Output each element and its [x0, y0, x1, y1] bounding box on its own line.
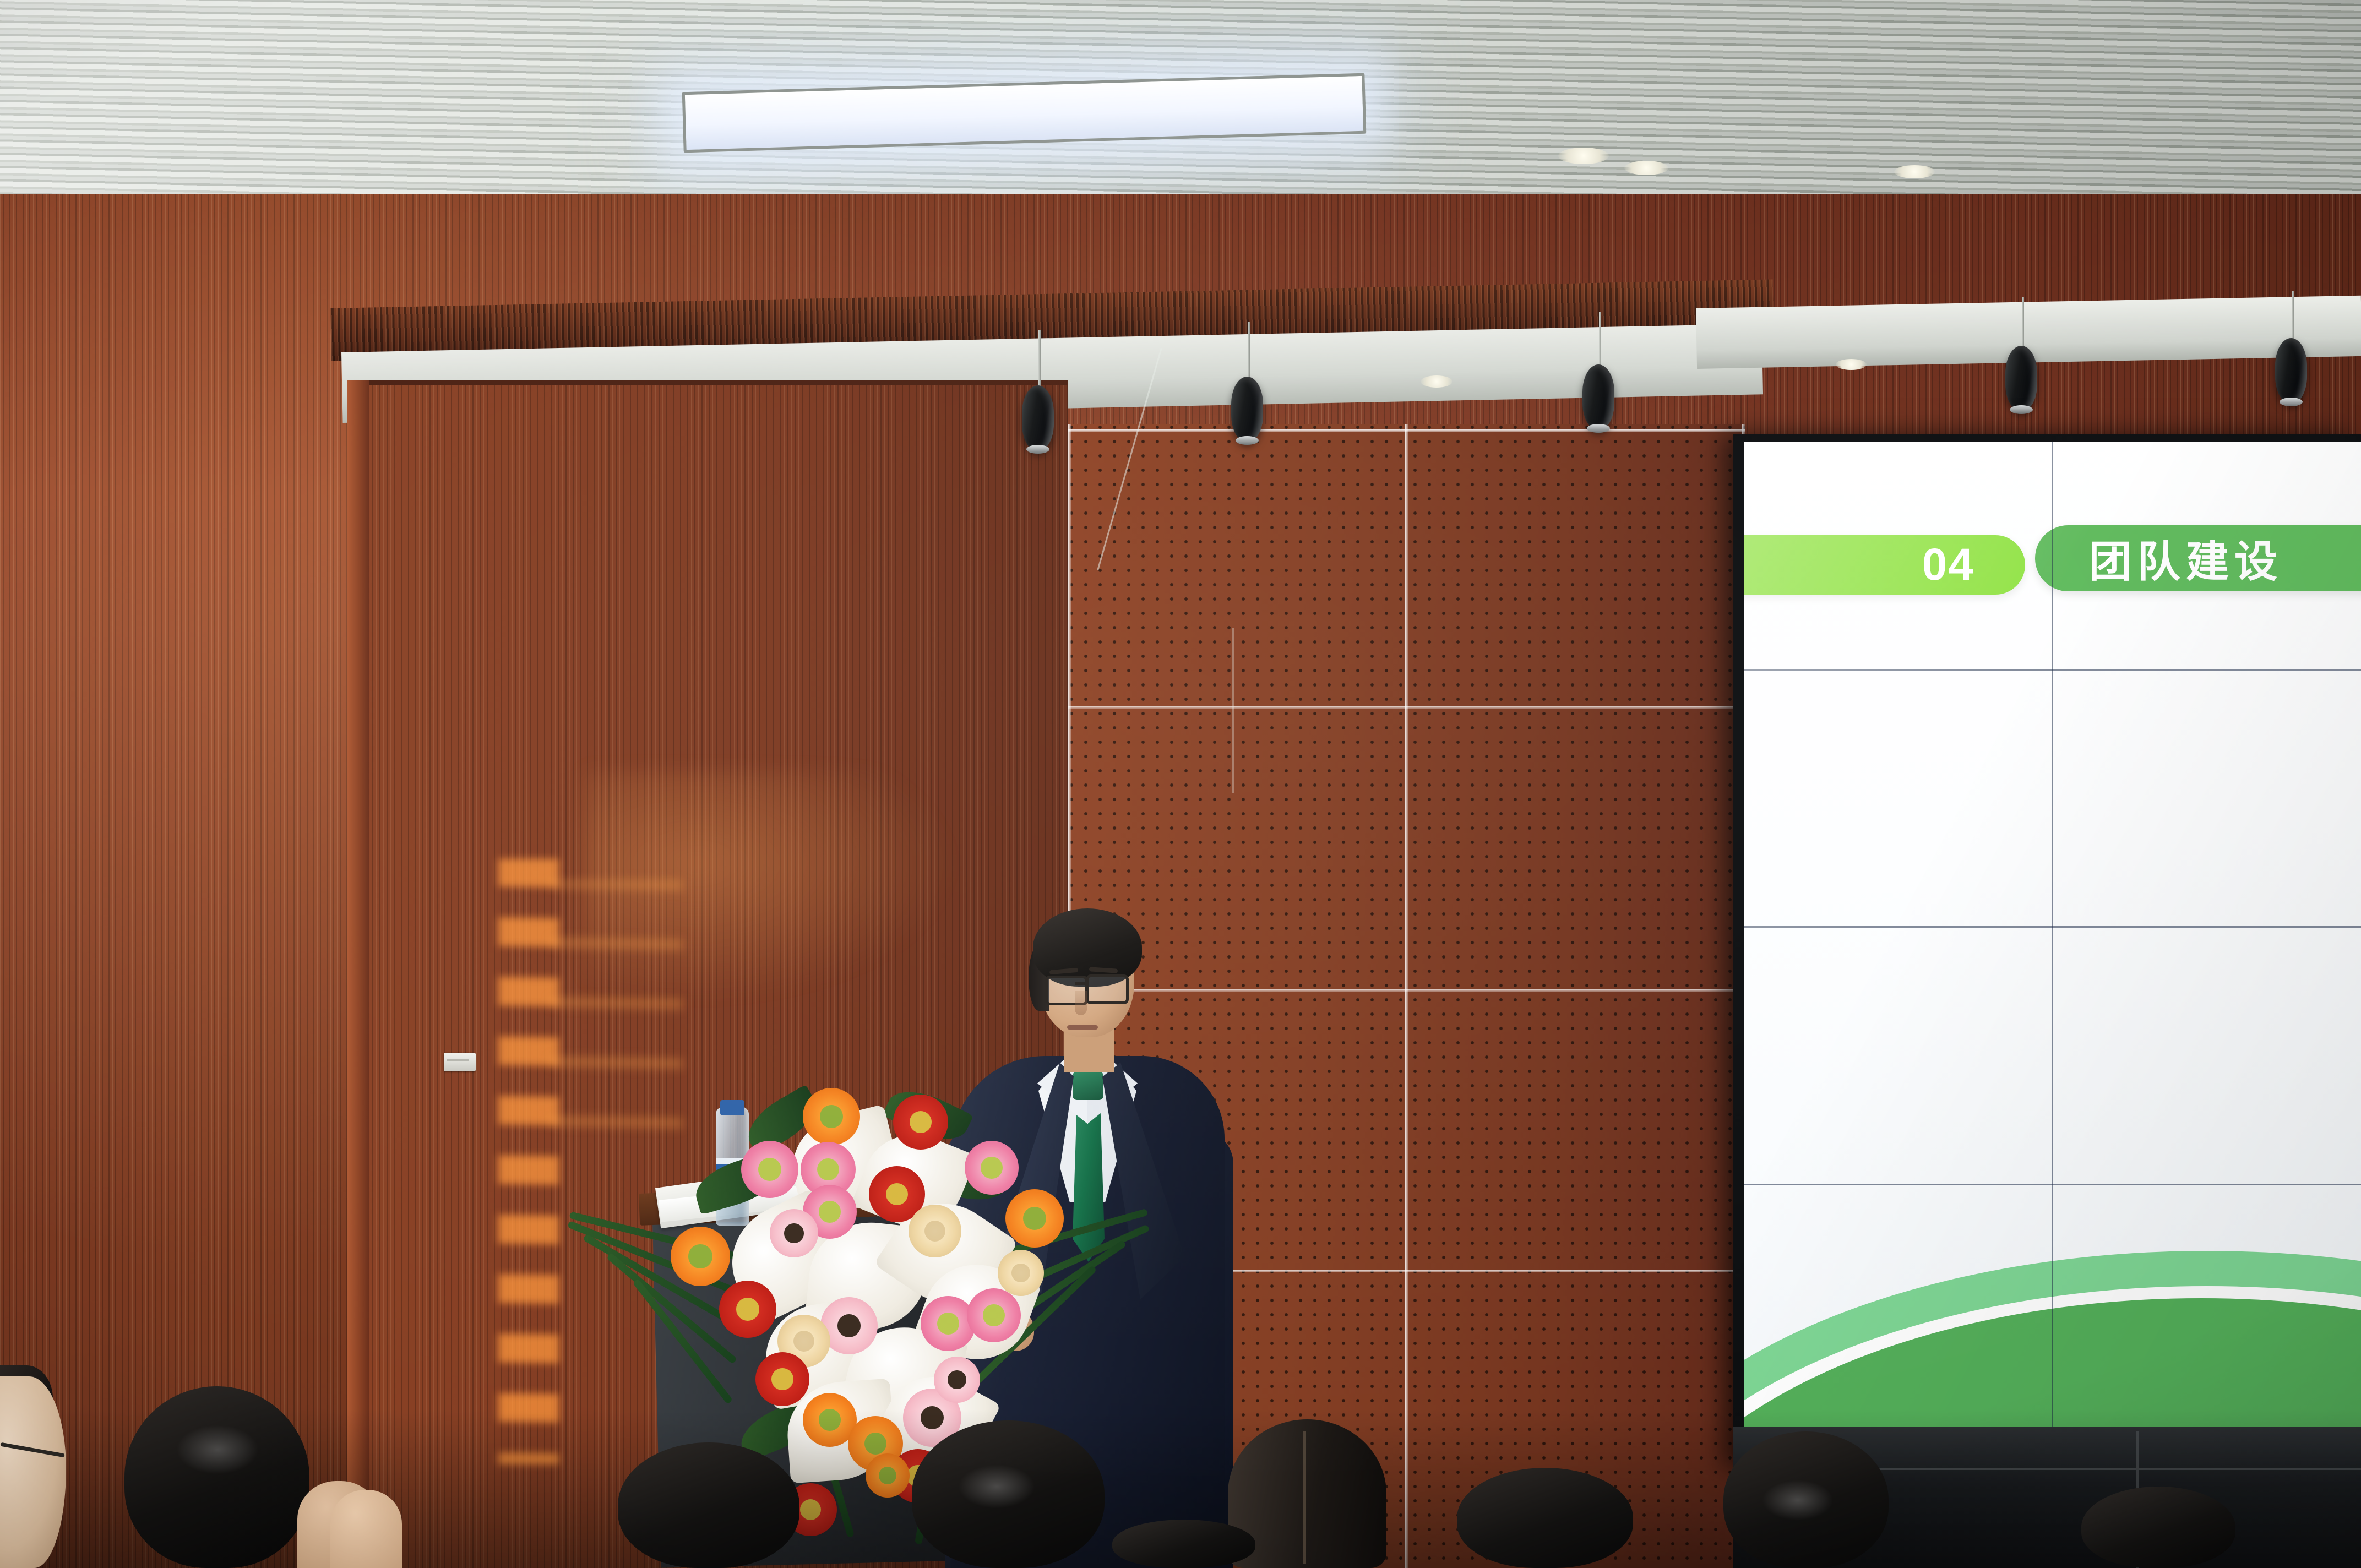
attendee-head: [124, 1386, 309, 1568]
hair-highlight: [1762, 1480, 1834, 1521]
pale-gerbera: [934, 1357, 980, 1403]
downlight-icon: [1836, 359, 1867, 370]
cream-rose: [909, 1205, 961, 1257]
orange-gerbera: [1005, 1189, 1064, 1248]
red-gerbera: [755, 1352, 809, 1406]
hair-highlight: [176, 1425, 259, 1474]
video-wall-surface: 04 团队建设 发 20: [1744, 442, 2361, 1467]
panel-joint-horizontal: [1068, 989, 1745, 992]
spotlight-rod: [1248, 322, 1250, 383]
glasses-bridge: [1075, 982, 1087, 985]
conference-speech-photo: 04 团队建设 发 20: [0, 0, 2361, 1568]
ceiling-glow-spot: [1624, 161, 1668, 175]
speaker-nose: [1075, 991, 1087, 1015]
orange-gerbera: [803, 1088, 860, 1145]
hair-highlight: [958, 1464, 1035, 1509]
suspension-wire: [1232, 628, 1234, 793]
red-gerbera: [893, 1095, 948, 1150]
red-gerbera: [719, 1281, 776, 1338]
led-video-wall[interactable]: 04 团队建设 发 20: [1733, 434, 2361, 1469]
hair-part: [1303, 1431, 1306, 1564]
spotlight-rod: [1038, 330, 1041, 394]
pale-gerbera: [770, 1209, 818, 1257]
attendee-head: [2081, 1487, 2235, 1568]
pink-gerbera: [965, 1141, 1019, 1195]
glasses-lens-right: [1086, 974, 1129, 1004]
track-spotlight: [1022, 385, 1054, 451]
pink-gerbera: [741, 1141, 798, 1198]
ceiling-glow-spot: [1894, 165, 1935, 178]
attendee-head: [1112, 1520, 1255, 1568]
speaker-mouth: [1067, 1025, 1098, 1030]
screen-glare: [1744, 442, 2361, 1467]
track-spotlight: [2275, 338, 2307, 404]
ceiling-glow-spot: [1558, 148, 1609, 164]
track-spotlight: [1582, 364, 1614, 431]
pink-gerbera: [921, 1296, 976, 1351]
sunlight-blind-stripes: [498, 859, 559, 1464]
downlight-icon: [1421, 375, 1452, 388]
pink-gerbera: [967, 1288, 1021, 1342]
track-spotlight: [1231, 377, 1263, 443]
panel-joint-horizontal: [1068, 429, 1745, 432]
attendee-head: [618, 1442, 799, 1568]
orange-gerbera: [671, 1227, 730, 1286]
spotlight-rod: [2292, 291, 2294, 344]
panel-joint-horizontal: [1068, 706, 1745, 709]
panel-joint-vertical: [1405, 424, 1408, 1568]
door-jamb: [347, 380, 369, 1568]
applauding-hand: [330, 1490, 402, 1568]
attendee-head: [1457, 1468, 1633, 1568]
spotlight-rod: [2022, 297, 2024, 352]
spotlight-rod: [1599, 312, 1601, 371]
track-spotlight: [2005, 346, 2037, 412]
light-switch-plate[interactable]: [444, 1053, 476, 1071]
cream-rose: [998, 1250, 1044, 1296]
